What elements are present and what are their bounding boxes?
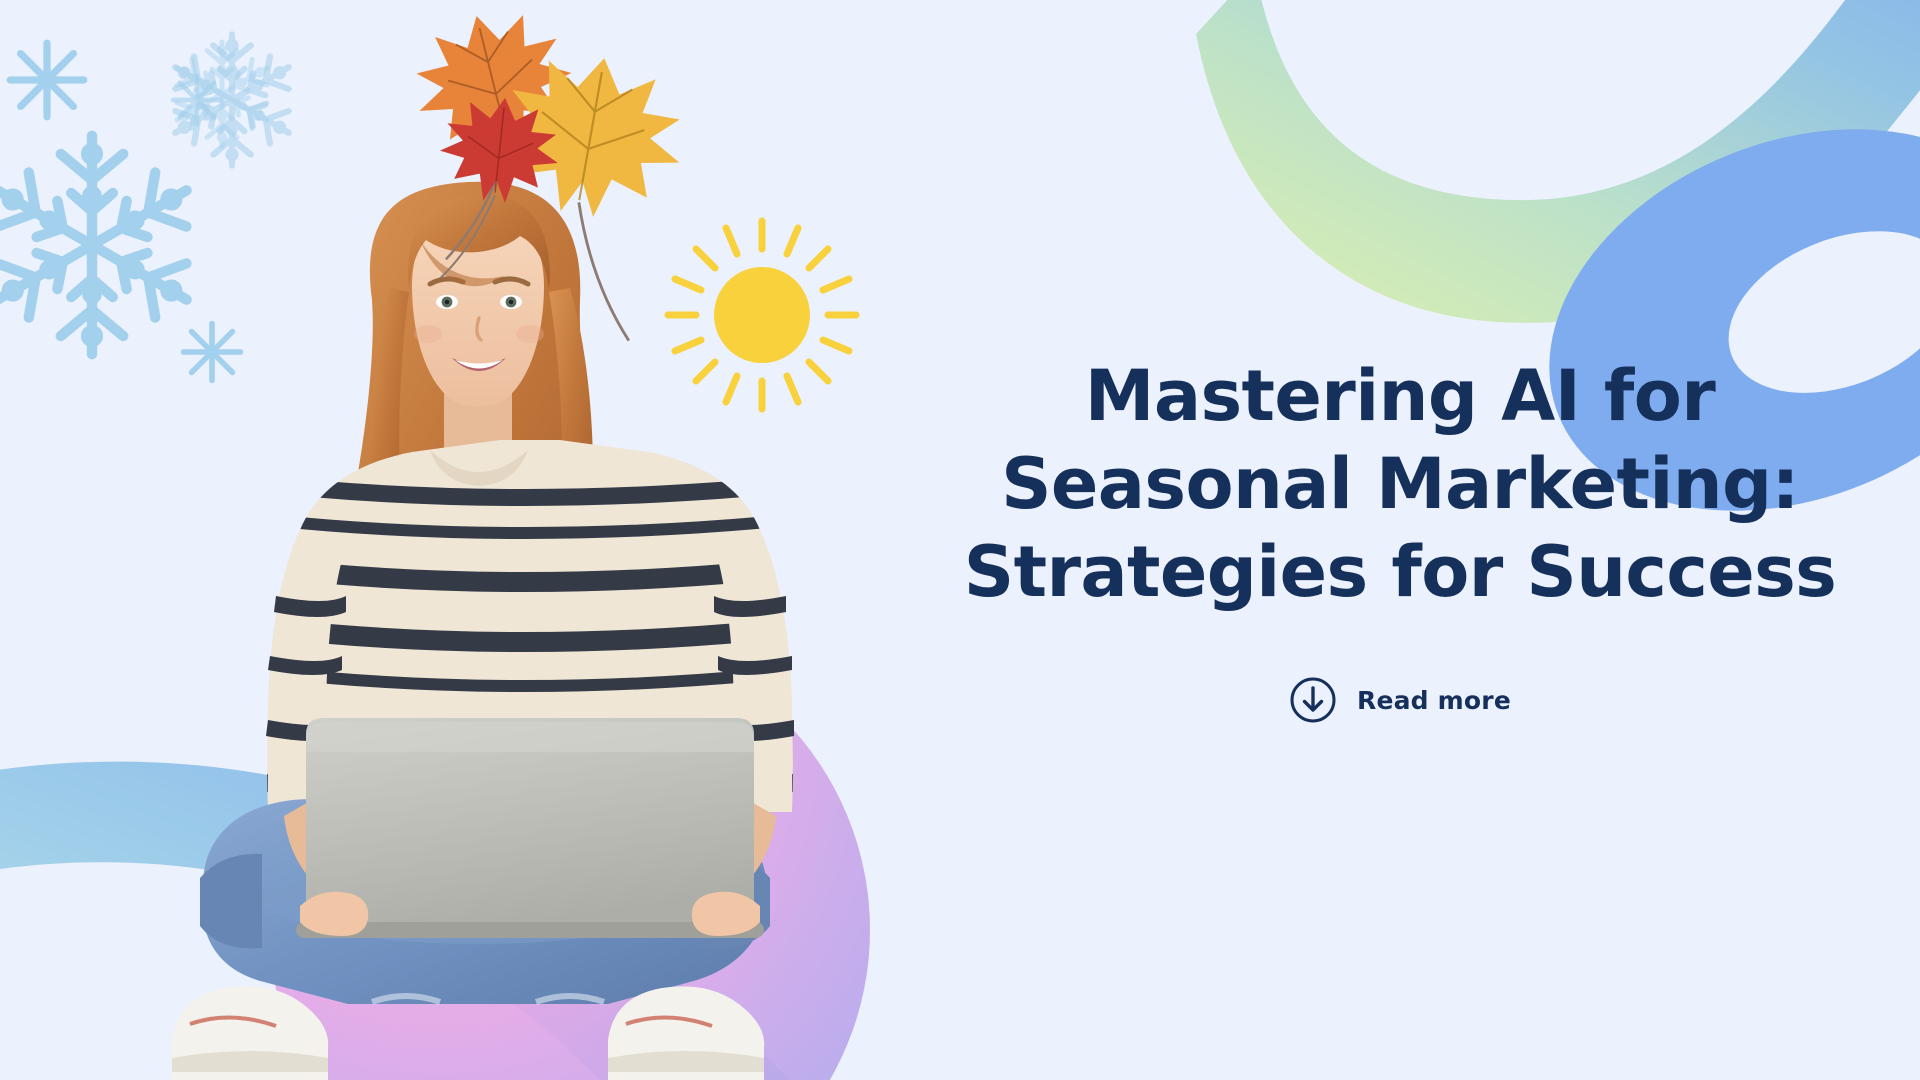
snowflake-detailed-right xyxy=(169,42,274,146)
striped-sweater xyxy=(250,440,810,812)
circle-arrow-down-icon xyxy=(1289,676,1337,724)
sun-icon xyxy=(668,221,856,409)
right-arm xyxy=(678,800,776,916)
snowflake-star-small-topleft xyxy=(10,43,84,117)
hair-front xyxy=(408,194,550,290)
neck xyxy=(444,372,512,480)
jeans-legs xyxy=(200,799,770,1004)
left-hand xyxy=(300,892,368,936)
hero-banner: Mastering AI for Seasonal Marketing: Str… xyxy=(0,0,1920,1080)
page-title: Mastering AI for Seasonal Marketing: Str… xyxy=(920,352,1880,617)
snowflake-star-small-lower xyxy=(173,76,221,124)
headline-line-2: Seasonal Marketing: xyxy=(920,440,1880,528)
snowflake-detailed-large xyxy=(0,136,202,354)
maple-leaf-orange xyxy=(391,0,608,259)
maple-leaf-red xyxy=(427,92,564,289)
right-hand xyxy=(692,892,760,936)
headline-line-3: Strategies for Success xyxy=(920,528,1880,616)
snowflake-detailed-top xyxy=(166,34,298,165)
laptop xyxy=(296,718,764,938)
sneakers xyxy=(172,986,764,1080)
headline-line-1: Mastering AI for xyxy=(920,352,1880,440)
hero-copy-block: Mastering AI for Seasonal Marketing: Str… xyxy=(880,0,1920,1080)
face xyxy=(412,212,544,406)
read-more-label: Read more xyxy=(1357,686,1511,715)
read-more-button[interactable]: Read more xyxy=(1285,672,1515,728)
maple-leaf-yellow xyxy=(466,42,695,344)
snowflake-star-small-mid xyxy=(183,323,240,380)
left-arm xyxy=(284,800,382,916)
hair-back xyxy=(340,182,612,700)
